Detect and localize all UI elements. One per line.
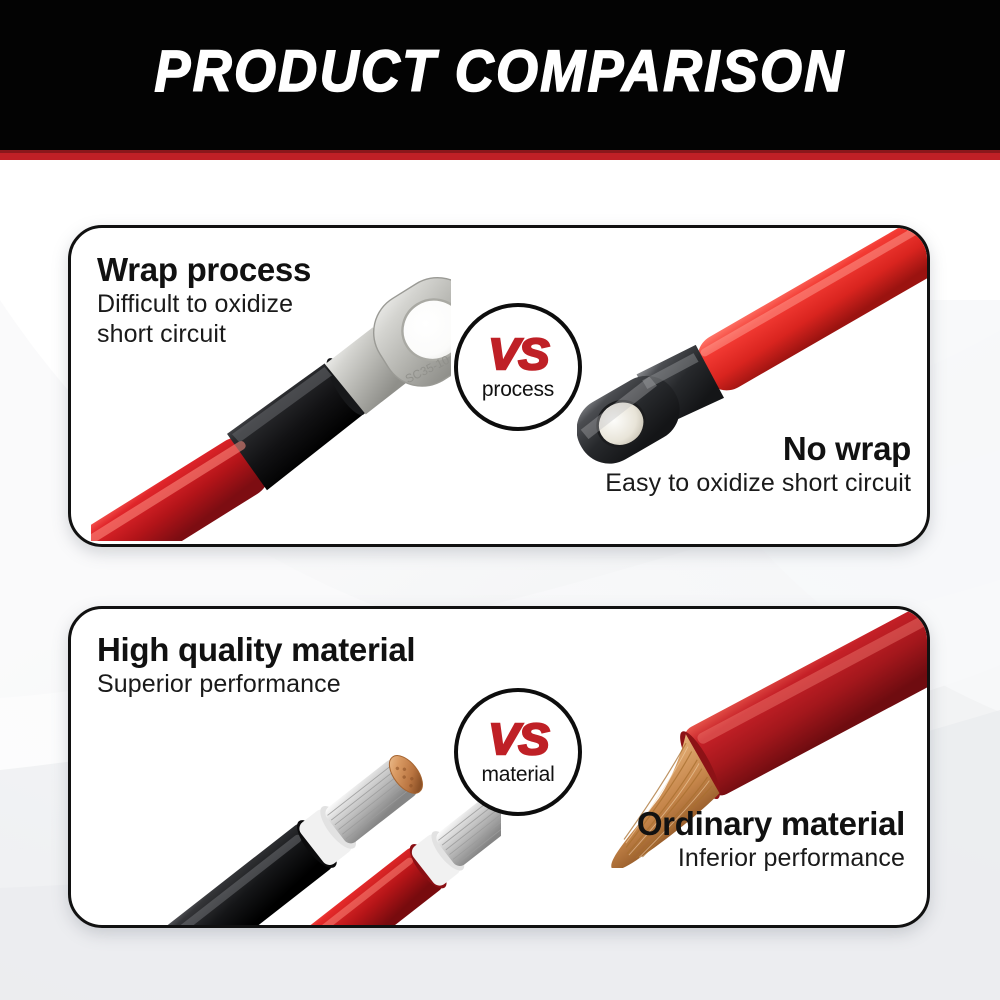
vs-mark: VS xyxy=(488,334,548,376)
wrap-process-subtitle-line1: Difficult to oxidize xyxy=(97,289,311,319)
high-quality-material-text-group: High quality material Superior performan… xyxy=(97,631,415,699)
ordinary-material-text-group: Ordinary material Inferior performance xyxy=(637,805,905,873)
svg-text:SC35-10: SC35-10 xyxy=(403,353,451,386)
wrap-process-text-group: Wrap process Difficult to oxidize short … xyxy=(97,251,311,349)
ordinary-material-title: Ordinary material xyxy=(637,805,905,843)
vs-caption: process xyxy=(482,378,554,401)
ordinary-material-subtitle: Inferior performance xyxy=(637,843,905,873)
tinned-copper-cable-image xyxy=(131,659,501,928)
ordinary-material-subtitle-line1: Inferior performance xyxy=(637,843,905,873)
page-title: PRODUCT COMPARISON xyxy=(35,41,965,103)
vs-mark: VS xyxy=(488,719,548,761)
no-wrap-subtitle: Easy to oxidize short circuit xyxy=(605,468,911,498)
no-wrap-text-group: No wrap Easy to oxidize short circuit xyxy=(605,430,911,498)
vs-caption: material xyxy=(481,763,554,786)
high-quality-material-subtitle-line1: Superior performance xyxy=(97,669,415,699)
wrap-process-subtitle: Difficult to oxidize short circuit xyxy=(97,289,311,349)
wrap-process-subtitle-line2: short circuit xyxy=(97,319,311,349)
no-wrap-subtitle-line1: Easy to oxidize short circuit xyxy=(605,468,911,498)
vs-badge-material: VS material xyxy=(454,688,582,816)
product-comparison-page: PRODUCT COMPARISON xyxy=(0,0,1000,1000)
high-quality-material-subtitle: Superior performance xyxy=(97,669,415,699)
no-wrap-title: No wrap xyxy=(605,430,911,468)
header-accent-stripe xyxy=(0,150,1000,160)
high-quality-material-title: High quality material xyxy=(97,631,415,669)
wrap-process-title: Wrap process xyxy=(97,251,311,289)
vs-badge-process: VS process xyxy=(454,303,582,431)
header-banner: PRODUCT COMPARISON xyxy=(0,0,1000,150)
